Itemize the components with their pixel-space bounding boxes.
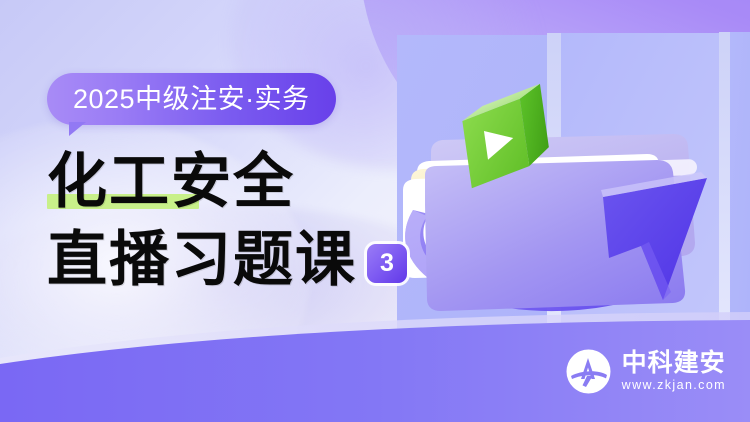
episode-number-badge: 3	[367, 244, 407, 283]
brand-url: www.zkjan.com	[622, 379, 726, 392]
course-category-label: 2025中级注安·实务	[73, 86, 310, 113]
brand-name: 中科建安	[622, 351, 726, 376]
headline-line-2: 直播习题课	[47, 229, 357, 291]
headline-block: 化工安全 直播习题课 3	[47, 143, 467, 291]
headline-line-1: 化工安全	[47, 151, 295, 213]
headline-line-1-row: 化工安全	[47, 143, 467, 213]
brand-logo: 中科建安 www.zkjan.com	[566, 349, 726, 394]
logo-text-block: 中科建安 www.zkjan.com	[622, 351, 726, 392]
episode-number: 3	[380, 251, 394, 276]
zkjan-circle-logo-icon	[566, 349, 611, 394]
course-category-badge: 2025中级注安·实务	[47, 73, 336, 125]
badge-tail-icon	[69, 122, 86, 136]
course-poster: 2025中级注安·实务 化工安全 直播习题课 3	[0, 0, 750, 422]
headline-line-2-row: 直播习题课 3	[47, 221, 467, 291]
poster-content: 2025中级注安·实务 化工安全 直播习题课 3	[47, 73, 467, 291]
